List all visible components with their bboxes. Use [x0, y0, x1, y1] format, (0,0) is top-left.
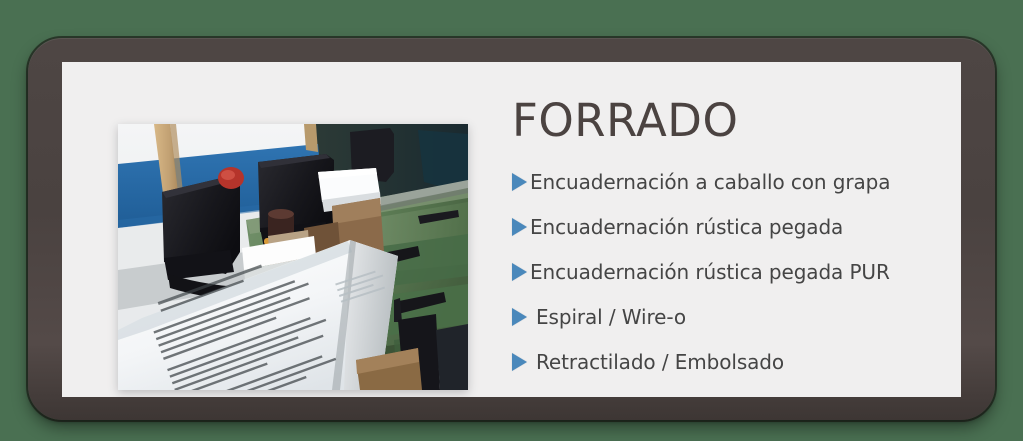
triangle-right-icon: [512, 173, 527, 191]
list-item[interactable]: Encuadernación a caballo con grapa: [512, 159, 942, 204]
slide-panel: FORRADO Encuadernación a caballo con gra…: [62, 62, 961, 397]
list-item-label: Encuadernación rústica pegada: [530, 215, 843, 239]
list-item-label: Encuadernación a caballo con grapa: [530, 170, 890, 194]
triangle-right-icon: [512, 353, 527, 371]
list-item[interactable]: Encuadernación rústica pegada PUR: [512, 249, 942, 294]
slide-bezel: FORRADO Encuadernación a caballo con gra…: [28, 38, 995, 420]
workshop-photo-illustration: [118, 124, 468, 390]
bookbinding-workshop-photo: [118, 124, 468, 390]
page-title: FORRADO: [512, 98, 942, 143]
triangle-right-icon: [512, 263, 527, 281]
service-list: Encuadernación a caballo con grapa Encua…: [512, 159, 942, 384]
list-item-label: Espiral / Wire-o: [536, 305, 686, 329]
list-item[interactable]: Retractilado / Embolsado: [512, 339, 942, 384]
triangle-right-icon: [512, 308, 527, 326]
list-item-label: Encuadernación rústica pegada PUR: [530, 260, 890, 284]
list-item[interactable]: Espiral / Wire-o: [512, 294, 942, 339]
list-item[interactable]: Encuadernación rústica pegada: [512, 204, 942, 249]
list-item-label: Retractilado / Embolsado: [536, 350, 784, 374]
slide-content: FORRADO Encuadernación a caballo con gra…: [512, 98, 942, 384]
triangle-right-icon: [512, 218, 527, 236]
